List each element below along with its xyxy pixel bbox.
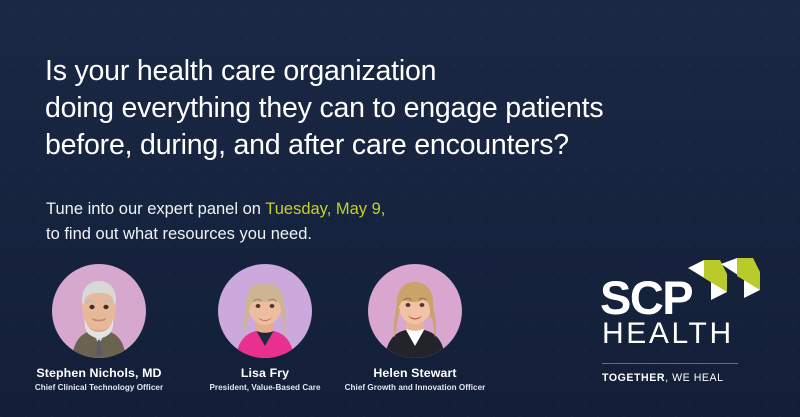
logo-divider — [602, 363, 738, 364]
subtitle-lead-text: Tune into our expert panel on — [46, 200, 265, 218]
tagline-rest: , WE HEAL — [665, 372, 724, 384]
subtitle-block: Tune into our expert panel on Tuesday, M… — [46, 197, 385, 247]
chevron-logo-icon — [688, 258, 766, 302]
logo-scp-text: SCP — [600, 274, 692, 321]
avatar — [218, 264, 312, 358]
speaker-card: Helen Stewart Chief Growth and Innovatio… — [327, 264, 503, 393]
logo-mark: SCP HEALTH TOGETHER, WE HEAL — [592, 262, 762, 354]
portrait-stephen-nichols — [52, 264, 146, 358]
speaker-name: Helen Stewart — [327, 366, 503, 381]
tagline-bold: TOGETHER — [602, 372, 665, 384]
speaker-name: Stephen Nichols, MD — [11, 366, 187, 381]
subtitle-line-1: Tune into our expert panel on Tuesday, M… — [46, 197, 385, 222]
webinar-promo-banner: Is your health care organization doing e… — [0, 0, 800, 417]
avatar — [368, 264, 462, 358]
speaker-title: Chief Clinical Technology Officer — [11, 382, 187, 393]
speaker-title: Chief Growth and Innovation Officer — [327, 382, 503, 393]
logo-tagline: TOGETHER, WE HEAL — [602, 372, 724, 384]
page-title: Is your health care organization doing e… — [45, 53, 765, 164]
scp-health-logo: SCP HEALTH TOGETHER, WE HEAL — [592, 262, 762, 354]
avatar — [52, 264, 146, 358]
subtitle-line-2: to find out what resources you need. — [46, 222, 385, 247]
event-date: Tuesday, May 9, — [265, 200, 385, 218]
speaker-card: Stephen Nichols, MD Chief Clinical Techn… — [11, 264, 187, 393]
portrait-lisa-fry — [218, 264, 312, 358]
logo-health-text: HEALTH — [602, 319, 734, 349]
portrait-helen-stewart — [368, 264, 462, 358]
